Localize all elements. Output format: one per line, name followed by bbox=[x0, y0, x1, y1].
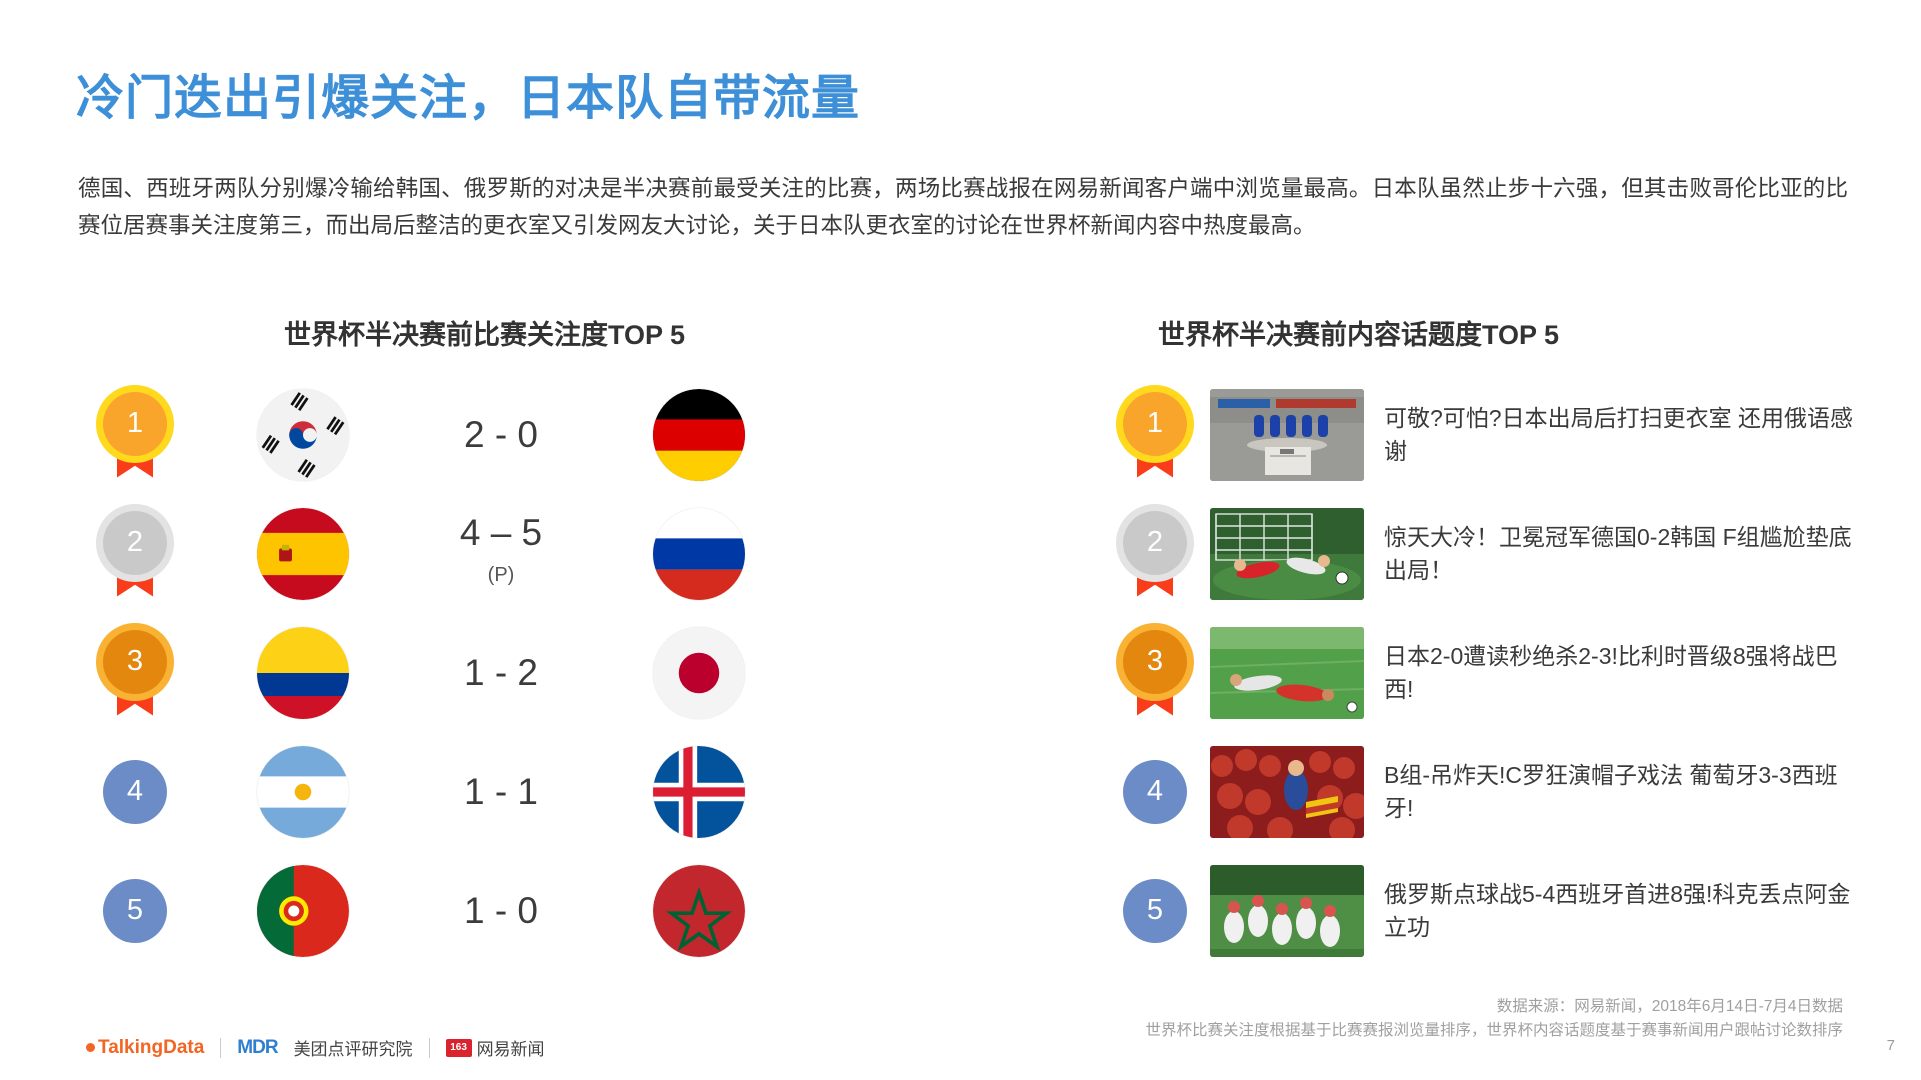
talkingdata-dot-icon bbox=[86, 1043, 95, 1052]
rank-number: 2 bbox=[1123, 511, 1187, 575]
rank-badge-5: 5 bbox=[103, 879, 167, 943]
home-flag-cell bbox=[210, 865, 396, 957]
page-number: 7 bbox=[1887, 1037, 1895, 1054]
right-panel-heading: 世界杯半决赛前内容话题度TOP 5 bbox=[1158, 313, 1559, 352]
match-score: 1 - 2 bbox=[396, 653, 606, 693]
flag-icon-西班牙 bbox=[257, 508, 349, 600]
rank-badge-5: 5 bbox=[1123, 879, 1187, 943]
flag-icon-摩洛哥 bbox=[653, 865, 745, 957]
medal-badge-silver-icon: 2 bbox=[1123, 511, 1187, 597]
away-flag-cell bbox=[606, 627, 792, 719]
list-item[interactable]: 4B组-吊炸天!C罗狂演帽子戏法 葡萄牙3-3西班牙! bbox=[1100, 732, 1890, 851]
brand-divider bbox=[220, 1038, 221, 1058]
news-thumbnail-spain-fans-crowd[interactable] bbox=[1210, 746, 1364, 838]
flag-icon-阿根廷 bbox=[257, 746, 349, 838]
home-flag-cell bbox=[210, 389, 396, 481]
table-row: 24 – 5(P) bbox=[60, 494, 900, 613]
home-flag-cell bbox=[210, 508, 396, 600]
score-note: (P) bbox=[396, 555, 606, 595]
news-headline[interactable]: B组-吊炸天!C罗狂演帽子戏法 葡萄牙3-3西班牙! bbox=[1384, 759, 1854, 825]
news-headline[interactable]: 俄罗斯点球战5-4西班牙首进8强!科克丢点阿金立功 bbox=[1384, 878, 1854, 944]
left-panel-heading: 世界杯半决赛前比赛关注度TOP 5 bbox=[284, 313, 685, 352]
news-thumbnail-russia-celebration[interactable] bbox=[1210, 865, 1364, 957]
news-headline[interactable]: 惊天大冷！卫冕冠军德国0-2韩国 F组尴尬垫底出局！ bbox=[1384, 521, 1854, 587]
source-line-2: 世界杯比赛关注度根据基于比赛赛报浏览量排序，世界杯内容话题度基于赛事新闻用户跟帖… bbox=[1145, 1019, 1843, 1043]
flag-icon-冰岛 bbox=[653, 746, 745, 838]
list-item[interactable]: 5俄罗斯点球战5-4西班牙首进8强!科克丢点阿金立功 bbox=[1100, 851, 1890, 970]
brand-divider-2 bbox=[429, 1038, 430, 1058]
rank-cell: 1 bbox=[1100, 392, 1210, 478]
rank-number: 1 bbox=[1123, 392, 1187, 456]
flag-icon-哥伦比亚 bbox=[257, 627, 349, 719]
match-ranking-list: 12 - 024 – 5(P)31 - 241 - 151 - 0 bbox=[60, 375, 900, 970]
rank-cell: 2 bbox=[1100, 511, 1210, 597]
rank-number: 3 bbox=[103, 630, 167, 694]
mdr-label: MDR bbox=[237, 1037, 277, 1058]
flag-icon-葡萄牙 bbox=[257, 865, 349, 957]
rank-cell: 3 bbox=[1100, 630, 1210, 716]
list-item[interactable]: 3日本2-0遭读秒绝杀2-3!比利时晋级8强将战巴西! bbox=[1100, 613, 1890, 732]
table-row: 41 - 1 bbox=[60, 732, 900, 851]
medal-badge-bronze-icon: 3 bbox=[103, 630, 167, 716]
away-flag-cell bbox=[606, 389, 792, 481]
flag-icon-韩国 bbox=[257, 389, 349, 481]
rank-number: 3 bbox=[1123, 630, 1187, 694]
list-item[interactable]: 2惊天大冷！卫冕冠军德国0-2韩国 F组尴尬垫底出局！ bbox=[1100, 494, 1890, 613]
medal-badge-silver-icon: 2 bbox=[103, 511, 167, 597]
rank-cell: 5 bbox=[60, 879, 210, 943]
table-row: 31 - 2 bbox=[60, 613, 900, 732]
rank-badge-4: 4 bbox=[1123, 760, 1187, 824]
flag-icon-德国 bbox=[653, 389, 745, 481]
news-headline[interactable]: 可敬?可怕?日本出局后打扫更衣室 还用俄语感谢 bbox=[1384, 402, 1854, 468]
news-thumbnail-korea-germany-goal[interactable] bbox=[1210, 508, 1364, 600]
rank-cell: 3 bbox=[60, 630, 210, 716]
source-line-1: 数据来源：网易新闻，2018年6月14日-7月4日数据 bbox=[1145, 995, 1843, 1019]
rank-number: 2 bbox=[103, 511, 167, 575]
match-score: 1 - 1 bbox=[396, 772, 606, 812]
rank-cell: 4 bbox=[60, 760, 210, 824]
page-title: 冷门迭出引爆关注，日本队自带流量 bbox=[76, 58, 860, 128]
home-flag-cell bbox=[210, 627, 396, 719]
match-score: 1 - 0 bbox=[396, 891, 606, 931]
medal-badge-gold-icon: 1 bbox=[103, 392, 167, 478]
news-thumbnail-japan-locker-room[interactable] bbox=[1210, 389, 1364, 481]
match-score: 4 – 5(P) bbox=[396, 513, 606, 595]
netease-label: 网易新闻 bbox=[477, 1035, 545, 1060]
table-row: 12 - 0 bbox=[60, 375, 900, 494]
medal-badge-gold-icon: 1 bbox=[1123, 392, 1187, 478]
list-item[interactable]: 1可敬?可怕?日本出局后打扫更衣室 还用俄语感谢 bbox=[1100, 375, 1890, 494]
medal-badge-bronze-icon: 3 bbox=[1123, 630, 1187, 716]
flag-icon-日本 bbox=[653, 627, 745, 719]
away-flag-cell bbox=[606, 865, 792, 957]
away-flag-cell bbox=[606, 508, 792, 600]
talkingdata-label: TalkingData bbox=[98, 1037, 204, 1059]
rank-cell: 5 bbox=[1100, 879, 1210, 943]
talkingdata-logo: TalkingData bbox=[86, 1037, 204, 1059]
news-ranking-list: 1可敬?可怕?日本出局后打扫更衣室 还用俄语感谢2惊天大冷！卫冕冠军德国0-2韩… bbox=[1100, 375, 1890, 970]
mdr-logo: MDR bbox=[237, 1037, 277, 1059]
source-note: 数据来源：网易新闻，2018年6月14日-7月4日数据 世界杯比赛关注度根据基于… bbox=[1145, 995, 1843, 1043]
rank-number: 1 bbox=[103, 392, 167, 456]
netease-badge-icon: 163 bbox=[446, 1039, 472, 1057]
rank-cell: 1 bbox=[60, 392, 210, 478]
away-flag-cell bbox=[606, 746, 792, 838]
home-flag-cell bbox=[210, 746, 396, 838]
rank-cell: 2 bbox=[60, 511, 210, 597]
match-score: 2 - 0 bbox=[396, 415, 606, 455]
netease-logo-group: 163 网易新闻 bbox=[446, 1035, 545, 1060]
news-headline[interactable]: 日本2-0遭读秒绝杀2-3!比利时晋级8强将战巴西! bbox=[1384, 640, 1854, 706]
flag-icon-俄罗斯 bbox=[653, 508, 745, 600]
news-thumbnail-belgium-japan-match[interactable] bbox=[1210, 627, 1364, 719]
slide-root: 冷门迭出引爆关注，日本队自带流量 德国、西班牙两队分别爆冷输给韩国、俄罗斯的对决… bbox=[0, 0, 1921, 1080]
rank-cell: 4 bbox=[1100, 760, 1210, 824]
rank-badge-4: 4 bbox=[103, 760, 167, 824]
intro-paragraph: 德国、西班牙两队分别爆冷输给韩国、俄罗斯的对决是半决赛前最受关注的比赛，两场比赛… bbox=[78, 170, 1848, 244]
footer-brand-bar: TalkingData MDR 美团点评研究院 163 网易新闻 bbox=[86, 1035, 545, 1060]
meituan-label: 美团点评研究院 bbox=[294, 1035, 413, 1060]
table-row: 51 - 0 bbox=[60, 851, 900, 970]
